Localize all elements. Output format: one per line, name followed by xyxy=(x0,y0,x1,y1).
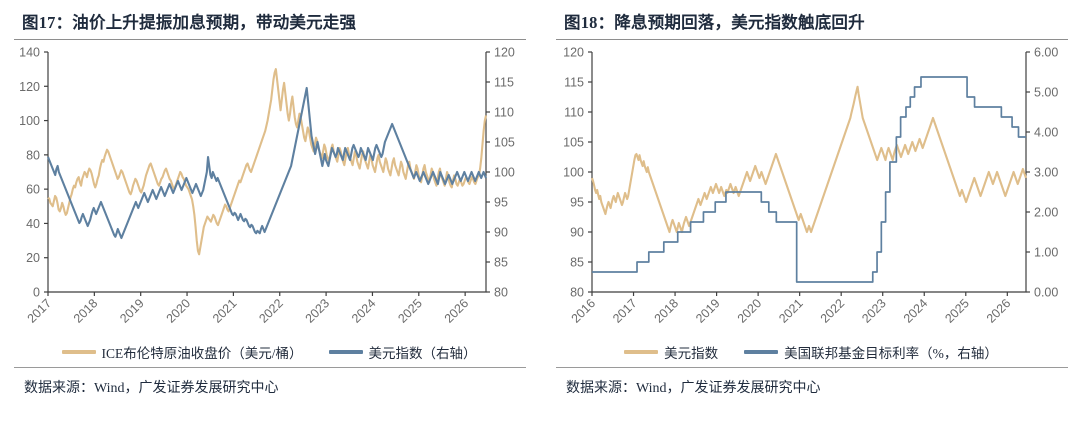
svg-text:120: 120 xyxy=(494,46,515,60)
svg-text:2019: 2019 xyxy=(117,296,147,326)
svg-text:2025: 2025 xyxy=(395,296,425,326)
svg-text:85: 85 xyxy=(570,256,584,270)
legend-swatch-dollar-index-2 xyxy=(624,350,658,354)
svg-text:2021: 2021 xyxy=(776,296,806,326)
svg-text:90: 90 xyxy=(570,226,584,240)
legend-item-dollar-index: 美元指数（右轴） xyxy=(329,342,477,362)
svg-text:20: 20 xyxy=(26,252,40,266)
figure-17-title: 图17：油价上升提振加息预期，带动美元走强 xyxy=(8,0,530,39)
svg-text:105: 105 xyxy=(563,136,584,150)
svg-text:85: 85 xyxy=(494,256,508,270)
chart-17-svg: 0204060801001201408085909510010511011512… xyxy=(8,40,530,335)
legend-swatch-dollar-index xyxy=(329,350,363,354)
svg-text:2026: 2026 xyxy=(442,296,472,326)
svg-text:2024: 2024 xyxy=(349,296,379,326)
figure-17-source: 数据来源：Wind，广发证券发展研究中心 xyxy=(8,368,530,397)
svg-text:95: 95 xyxy=(494,196,508,210)
svg-text:105: 105 xyxy=(494,136,515,150)
svg-text:95: 95 xyxy=(570,196,584,210)
legend-label-brent: ICE布伦特原油收盘价（美元/桶） xyxy=(102,342,303,362)
svg-text:110: 110 xyxy=(494,106,514,120)
svg-text:2018: 2018 xyxy=(652,296,682,326)
legend-swatch-fed-funds xyxy=(744,350,778,354)
legend-item-brent: ICE布伦特原油收盘价（美元/桶） xyxy=(62,342,303,362)
svg-text:2017: 2017 xyxy=(610,296,640,326)
svg-text:2019: 2019 xyxy=(693,296,723,326)
legend-item-dollar-index-2: 美元指数 xyxy=(624,342,718,362)
svg-text:4.00: 4.00 xyxy=(1034,126,1058,140)
svg-text:2020: 2020 xyxy=(164,296,194,326)
chart-17-legend: ICE布伦特原油收盘价（美元/桶） 美元指数（右轴） xyxy=(8,337,530,367)
svg-text:2.00: 2.00 xyxy=(1034,206,1058,220)
figure-18-source: 数据来源：Wind，广发证券发展研究中心 xyxy=(550,368,1072,397)
svg-text:110: 110 xyxy=(564,106,584,120)
svg-text:100: 100 xyxy=(494,166,515,180)
chart-18-svg: 808590951001051101151200.001.002.003.004… xyxy=(550,40,1072,335)
svg-text:90: 90 xyxy=(494,226,508,240)
svg-text:2024: 2024 xyxy=(901,296,931,326)
svg-text:115: 115 xyxy=(494,76,514,90)
svg-text:2022: 2022 xyxy=(818,296,848,326)
svg-text:0: 0 xyxy=(33,286,40,300)
svg-text:3.00: 3.00 xyxy=(1034,166,1058,180)
svg-text:6.00: 6.00 xyxy=(1034,46,1058,60)
svg-text:2020: 2020 xyxy=(735,296,765,326)
svg-text:5.00: 5.00 xyxy=(1034,86,1058,100)
figure-18-title: 图18：降息预期回落，美元指数触底回升 xyxy=(550,0,1072,39)
svg-text:80: 80 xyxy=(570,286,584,300)
svg-text:120: 120 xyxy=(19,80,40,94)
legend-item-fed-funds: 美国联邦基金目标利率（%，右轴） xyxy=(744,342,998,362)
svg-text:120: 120 xyxy=(563,46,584,60)
svg-text:2026: 2026 xyxy=(984,296,1014,326)
figure-panel-17: 图17：油价上升提振加息预期，带动美元走强 020406080100120140… xyxy=(0,0,540,425)
svg-text:60: 60 xyxy=(26,183,40,197)
chart-17: 0204060801001201408085909510010511011512… xyxy=(8,40,530,335)
legend-swatch-brent xyxy=(62,350,96,354)
figure-panel-18: 图18：降息预期回落，美元指数触底回升 80859095100105110115… xyxy=(540,0,1080,425)
svg-text:2018: 2018 xyxy=(71,296,101,326)
svg-text:140: 140 xyxy=(19,46,40,60)
legend-label-dollar-index-2: 美元指数 xyxy=(664,342,718,362)
svg-text:2022: 2022 xyxy=(256,296,286,326)
svg-text:100: 100 xyxy=(19,114,40,128)
legend-label-dollar-index: 美元指数（右轴） xyxy=(369,342,477,362)
chart-18-legend: 美元指数 美国联邦基金目标利率（%，右轴） xyxy=(550,337,1072,367)
svg-text:80: 80 xyxy=(26,149,40,163)
svg-text:100: 100 xyxy=(563,166,584,180)
svg-text:0.00: 0.00 xyxy=(1034,286,1058,300)
svg-text:2017: 2017 xyxy=(25,296,55,326)
svg-text:2025: 2025 xyxy=(942,296,972,326)
svg-text:40: 40 xyxy=(26,217,40,231)
svg-text:80: 80 xyxy=(494,286,508,300)
svg-text:2016: 2016 xyxy=(569,296,599,326)
svg-text:2021: 2021 xyxy=(210,296,240,326)
figures-page: 图17：油价上升提振加息预期，带动美元走强 020406080100120140… xyxy=(0,0,1080,425)
svg-text:2023: 2023 xyxy=(859,296,889,326)
chart-18: 808590951001051101151200.001.002.003.004… xyxy=(550,40,1072,335)
svg-text:115: 115 xyxy=(564,76,584,90)
legend-label-fed-funds: 美国联邦基金目标利率（%，右轴） xyxy=(784,342,998,362)
svg-text:1.00: 1.00 xyxy=(1034,246,1058,260)
svg-text:2023: 2023 xyxy=(303,296,333,326)
